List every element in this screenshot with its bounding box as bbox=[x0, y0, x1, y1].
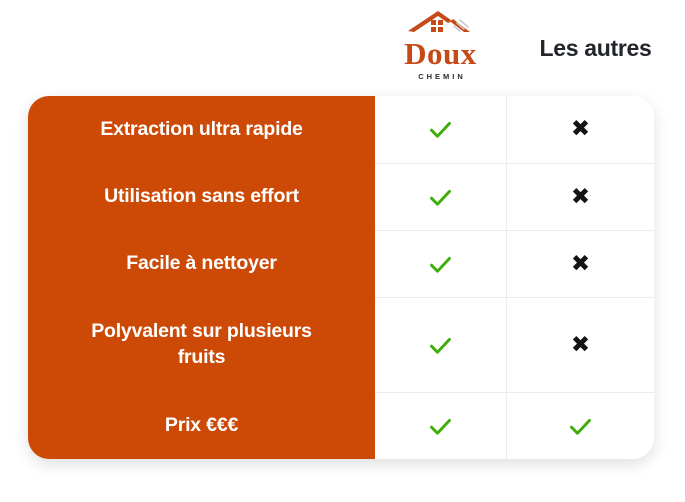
table-row: Extraction ultra rapide ✖ bbox=[28, 96, 654, 163]
check-icon bbox=[567, 413, 594, 440]
check-icon bbox=[427, 184, 454, 211]
check-icon bbox=[427, 251, 454, 278]
cell-others: ✖ bbox=[506, 297, 654, 392]
brand-logo: Doux CHEMIN bbox=[404, 9, 478, 81]
cross-icon: ✖ bbox=[571, 186, 590, 209]
table-row: Polyvalent sur plusieurs fruits ✖ bbox=[28, 297, 654, 392]
cell-doux bbox=[375, 163, 506, 230]
header-column-doux: Doux CHEMIN bbox=[375, 0, 506, 96]
comparison-page: Doux CHEMIN Les autres Extraction ultra … bbox=[0, 0, 685, 502]
comparison-table: Extraction ultra rapide ✖ Utilisation sa… bbox=[28, 96, 654, 459]
feature-label: Polyvalent sur plusieurs fruits bbox=[28, 297, 375, 392]
header-column-others: Les autres bbox=[506, 0, 685, 96]
feature-label: Utilisation sans effort bbox=[28, 163, 375, 230]
cell-others bbox=[506, 392, 654, 459]
feature-label: Prix €€€ bbox=[28, 392, 375, 459]
cell-doux bbox=[375, 392, 506, 459]
feature-label: Extraction ultra rapide bbox=[28, 96, 375, 163]
table-row: Facile à nettoyer ✖ bbox=[28, 230, 654, 297]
table-row: Utilisation sans effort ✖ bbox=[28, 163, 654, 230]
cell-doux bbox=[375, 230, 506, 297]
house-icon bbox=[404, 9, 478, 39]
cross-icon: ✖ bbox=[571, 253, 590, 276]
check-icon bbox=[427, 116, 454, 143]
others-title: Les autres bbox=[539, 34, 651, 62]
feature-label: Facile à nettoyer bbox=[28, 230, 375, 297]
check-icon bbox=[427, 332, 454, 359]
comparison-header: Doux CHEMIN Les autres bbox=[0, 0, 685, 96]
cell-others: ✖ bbox=[506, 230, 654, 297]
cell-doux bbox=[375, 96, 506, 163]
cell-others: ✖ bbox=[506, 163, 654, 230]
cross-icon: ✖ bbox=[571, 334, 590, 357]
brand-name: Doux bbox=[404, 38, 477, 69]
table-row: Prix €€€ bbox=[28, 392, 654, 459]
brand-tagline: CHEMIN bbox=[418, 73, 466, 81]
cell-doux bbox=[375, 297, 506, 392]
header-spacer bbox=[0, 0, 375, 96]
cross-icon: ✖ bbox=[571, 118, 590, 141]
check-icon bbox=[427, 413, 454, 440]
cell-others: ✖ bbox=[506, 96, 654, 163]
